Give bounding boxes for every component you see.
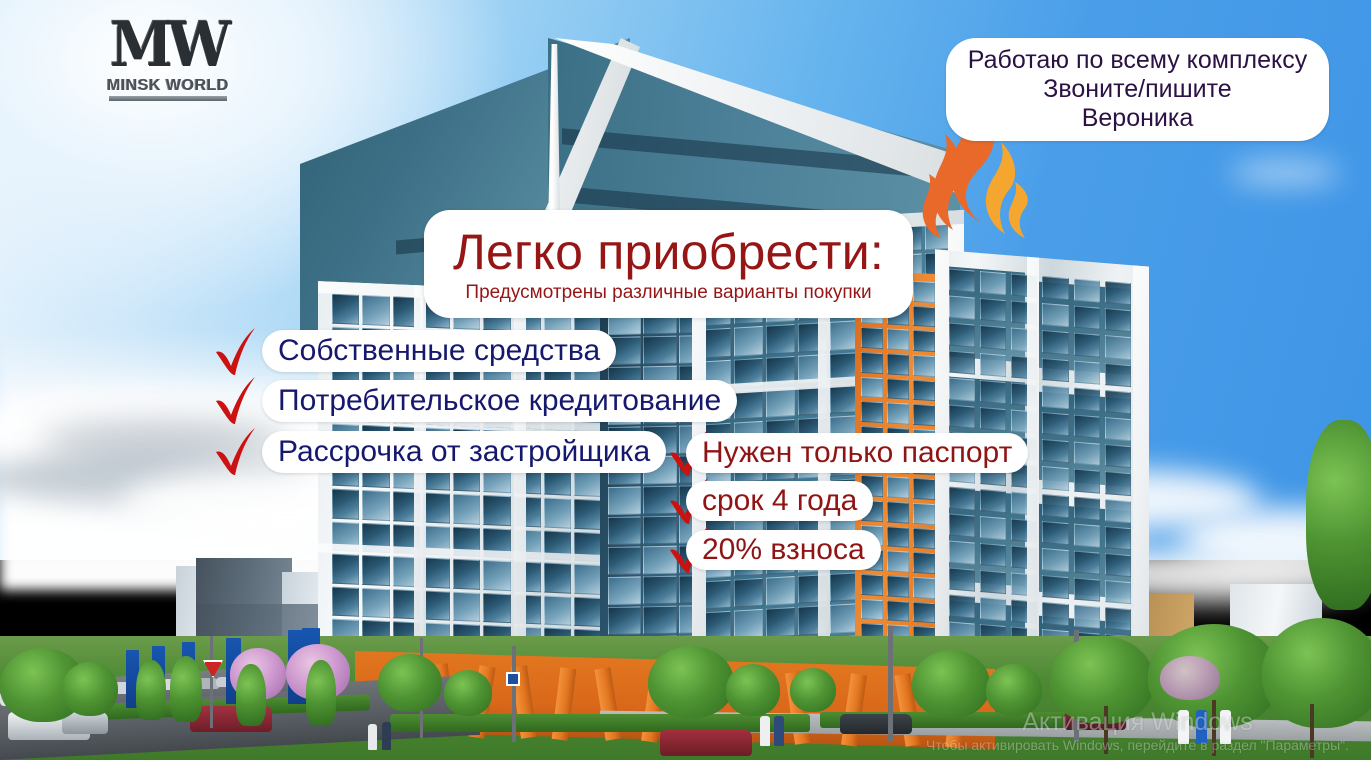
logo-monogram: MW (94, 14, 241, 76)
brand-logo[interactable]: MW MINSK WORLD (88, 14, 248, 114)
installment-term-label: срок 4 года (702, 484, 857, 518)
tree (444, 670, 492, 716)
check-icon (212, 426, 258, 478)
pedestrian (1196, 710, 1207, 744)
lamp-post (888, 626, 893, 742)
tree-trunk (1212, 700, 1216, 756)
contact-line-2: Звоните/пишите (1043, 75, 1231, 104)
tree-trunk (1310, 704, 1314, 758)
pedestrian (368, 724, 377, 750)
tree (912, 650, 990, 718)
tree (648, 646, 734, 718)
tree (726, 664, 780, 716)
lamp-post (210, 636, 213, 728)
pedestrian (382, 722, 391, 750)
blossom-tree (1160, 656, 1220, 700)
offer-subtitle: Предусмотрены различные варианты покупки (465, 282, 871, 304)
pedestrian (1178, 710, 1189, 744)
lamp-post (512, 646, 516, 742)
tree-trunk (1104, 706, 1108, 754)
payment-option-pill[interactable]: Рассрочка от застройщика (262, 431, 666, 473)
installment-term-label: Нужен только паспорт (702, 436, 1012, 470)
moving-car (660, 730, 752, 756)
pedestrian (1220, 710, 1231, 744)
tree (1306, 420, 1371, 610)
installment-term-pill[interactable]: срок 4 года (686, 481, 873, 521)
tree (170, 656, 202, 722)
tree (986, 664, 1042, 716)
tree (1050, 636, 1154, 724)
pedestrian (760, 716, 770, 746)
contact-line-3: Вероника (1082, 104, 1194, 133)
tree (236, 664, 266, 726)
tree (306, 660, 336, 726)
tree (790, 668, 836, 712)
tree (62, 662, 118, 716)
cloud (1230, 160, 1340, 186)
installment-term-pill[interactable]: Нужен только паспорт (686, 433, 1028, 473)
payment-option-label: Рассрочка от застройщика (278, 435, 650, 469)
tree (1262, 618, 1371, 728)
pedestrian (774, 716, 784, 746)
installment-term-label: 20% взноса (702, 533, 865, 567)
payment-option-pill[interactable]: Потребительское кредитование (262, 380, 737, 422)
payment-option-label: Потребительское кредитование (278, 384, 721, 418)
poster-canvas: MW MINSK WORLD Работаю по всему комплекс… (0, 0, 1371, 760)
contact-bubble[interactable]: Работаю по всему комплексу Звоните/пишит… (946, 38, 1329, 141)
tree (378, 654, 442, 712)
payment-option-pill[interactable]: Собственные средства (262, 330, 616, 372)
contact-line-1: Работаю по всему комплексу (968, 46, 1307, 75)
tree (136, 660, 166, 720)
check-icon (212, 326, 258, 378)
installment-term-pill[interactable]: 20% взноса (686, 530, 881, 570)
moving-car (840, 714, 912, 734)
check-icon (212, 375, 258, 427)
payment-option-label: Собственные средства (278, 334, 600, 368)
logo-underline (109, 96, 227, 101)
pedestrian-sign (506, 672, 520, 686)
offer-title: Легко приобрести: (453, 225, 884, 279)
offer-card: Легко приобрести: Предусмотрены различны… (424, 210, 913, 318)
